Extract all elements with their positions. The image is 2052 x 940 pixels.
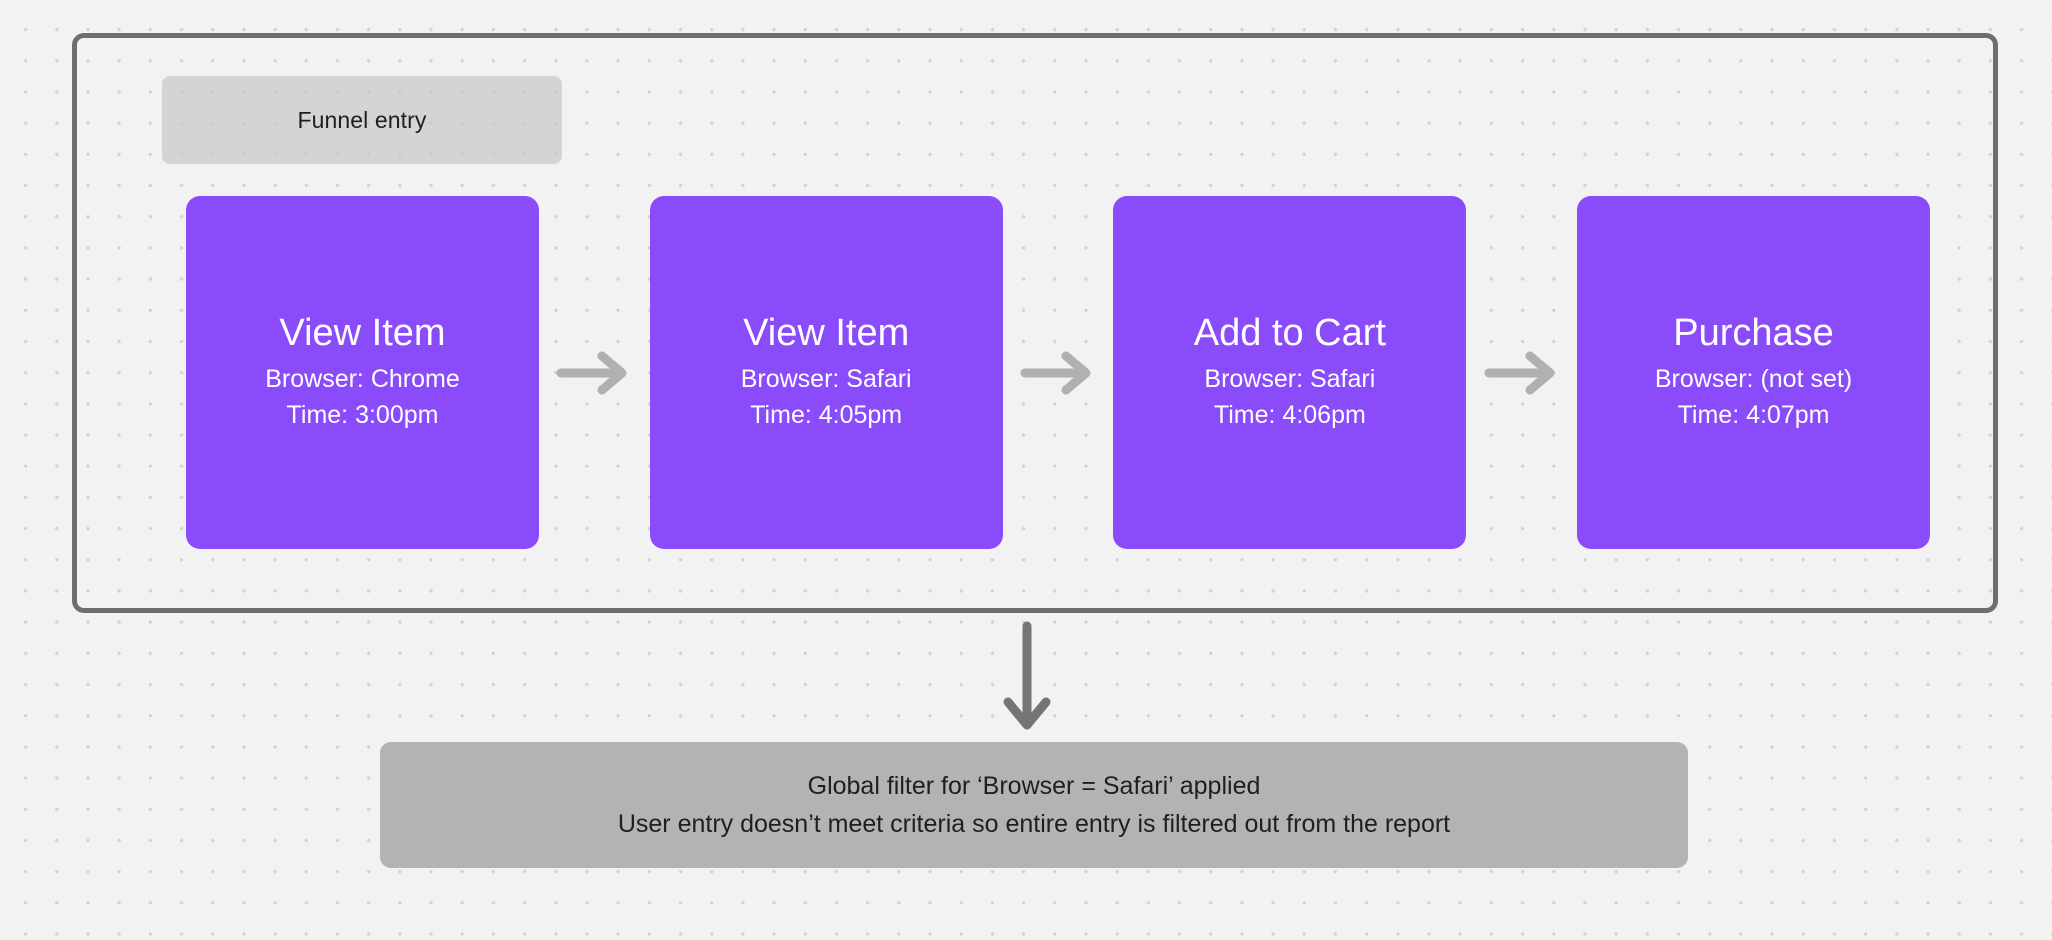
step-arrow-1-to-2	[539, 343, 650, 403]
step-browser: Browser: Chrome	[265, 361, 460, 397]
step-title: View Item	[279, 312, 445, 355]
funnel-steps-row: View Item Browser: Chrome Time: 3:00pm V…	[186, 196, 1930, 549]
funnel-diagram-canvas: { "canvas": { "background_color": "#f2f2…	[0, 0, 2052, 940]
funnel-step-card-3[interactable]: Add to Cart Browser: Safari Time: 4:06pm	[1113, 196, 1466, 549]
funnel-step-card-4[interactable]: Purchase Browser: (not set) Time: 4:07pm	[1577, 196, 1930, 549]
step-arrow-2-to-3	[1003, 343, 1114, 403]
step-time: Time: 3:00pm	[287, 397, 439, 433]
arrow-right-icon	[556, 349, 632, 397]
step-time: Time: 4:05pm	[750, 397, 902, 433]
step-time: Time: 4:07pm	[1678, 397, 1830, 433]
arrow-down-icon	[1000, 620, 1054, 732]
step-browser: Browser: Safari	[741, 361, 912, 397]
step-browser: Browser: (not set)	[1655, 361, 1852, 397]
funnel-step-card-2[interactable]: View Item Browser: Safari Time: 4:05pm	[650, 196, 1003, 549]
step-title: Purchase	[1673, 312, 1834, 355]
step-title: View Item	[743, 312, 909, 355]
global-filter-banner-line-1: Global filter for ‘Browser = Safari’ app…	[808, 767, 1261, 805]
step-title: Add to Cart	[1194, 312, 1386, 355]
global-filter-banner: Global filter for ‘Browser = Safari’ app…	[380, 742, 1688, 868]
global-filter-banner-line-2: User entry doesn’t meet criteria so enti…	[618, 805, 1450, 843]
funnel-entry-label-text: Funnel entry	[297, 107, 426, 134]
arrow-right-icon	[1020, 349, 1096, 397]
step-arrow-3-to-4	[1466, 343, 1577, 403]
arrow-right-icon	[1484, 349, 1560, 397]
step-browser: Browser: Safari	[1204, 361, 1375, 397]
funnel-step-card-1[interactable]: View Item Browser: Chrome Time: 3:00pm	[186, 196, 539, 549]
step-time: Time: 4:06pm	[1214, 397, 1366, 433]
funnel-entry-label: Funnel entry	[162, 76, 562, 164]
